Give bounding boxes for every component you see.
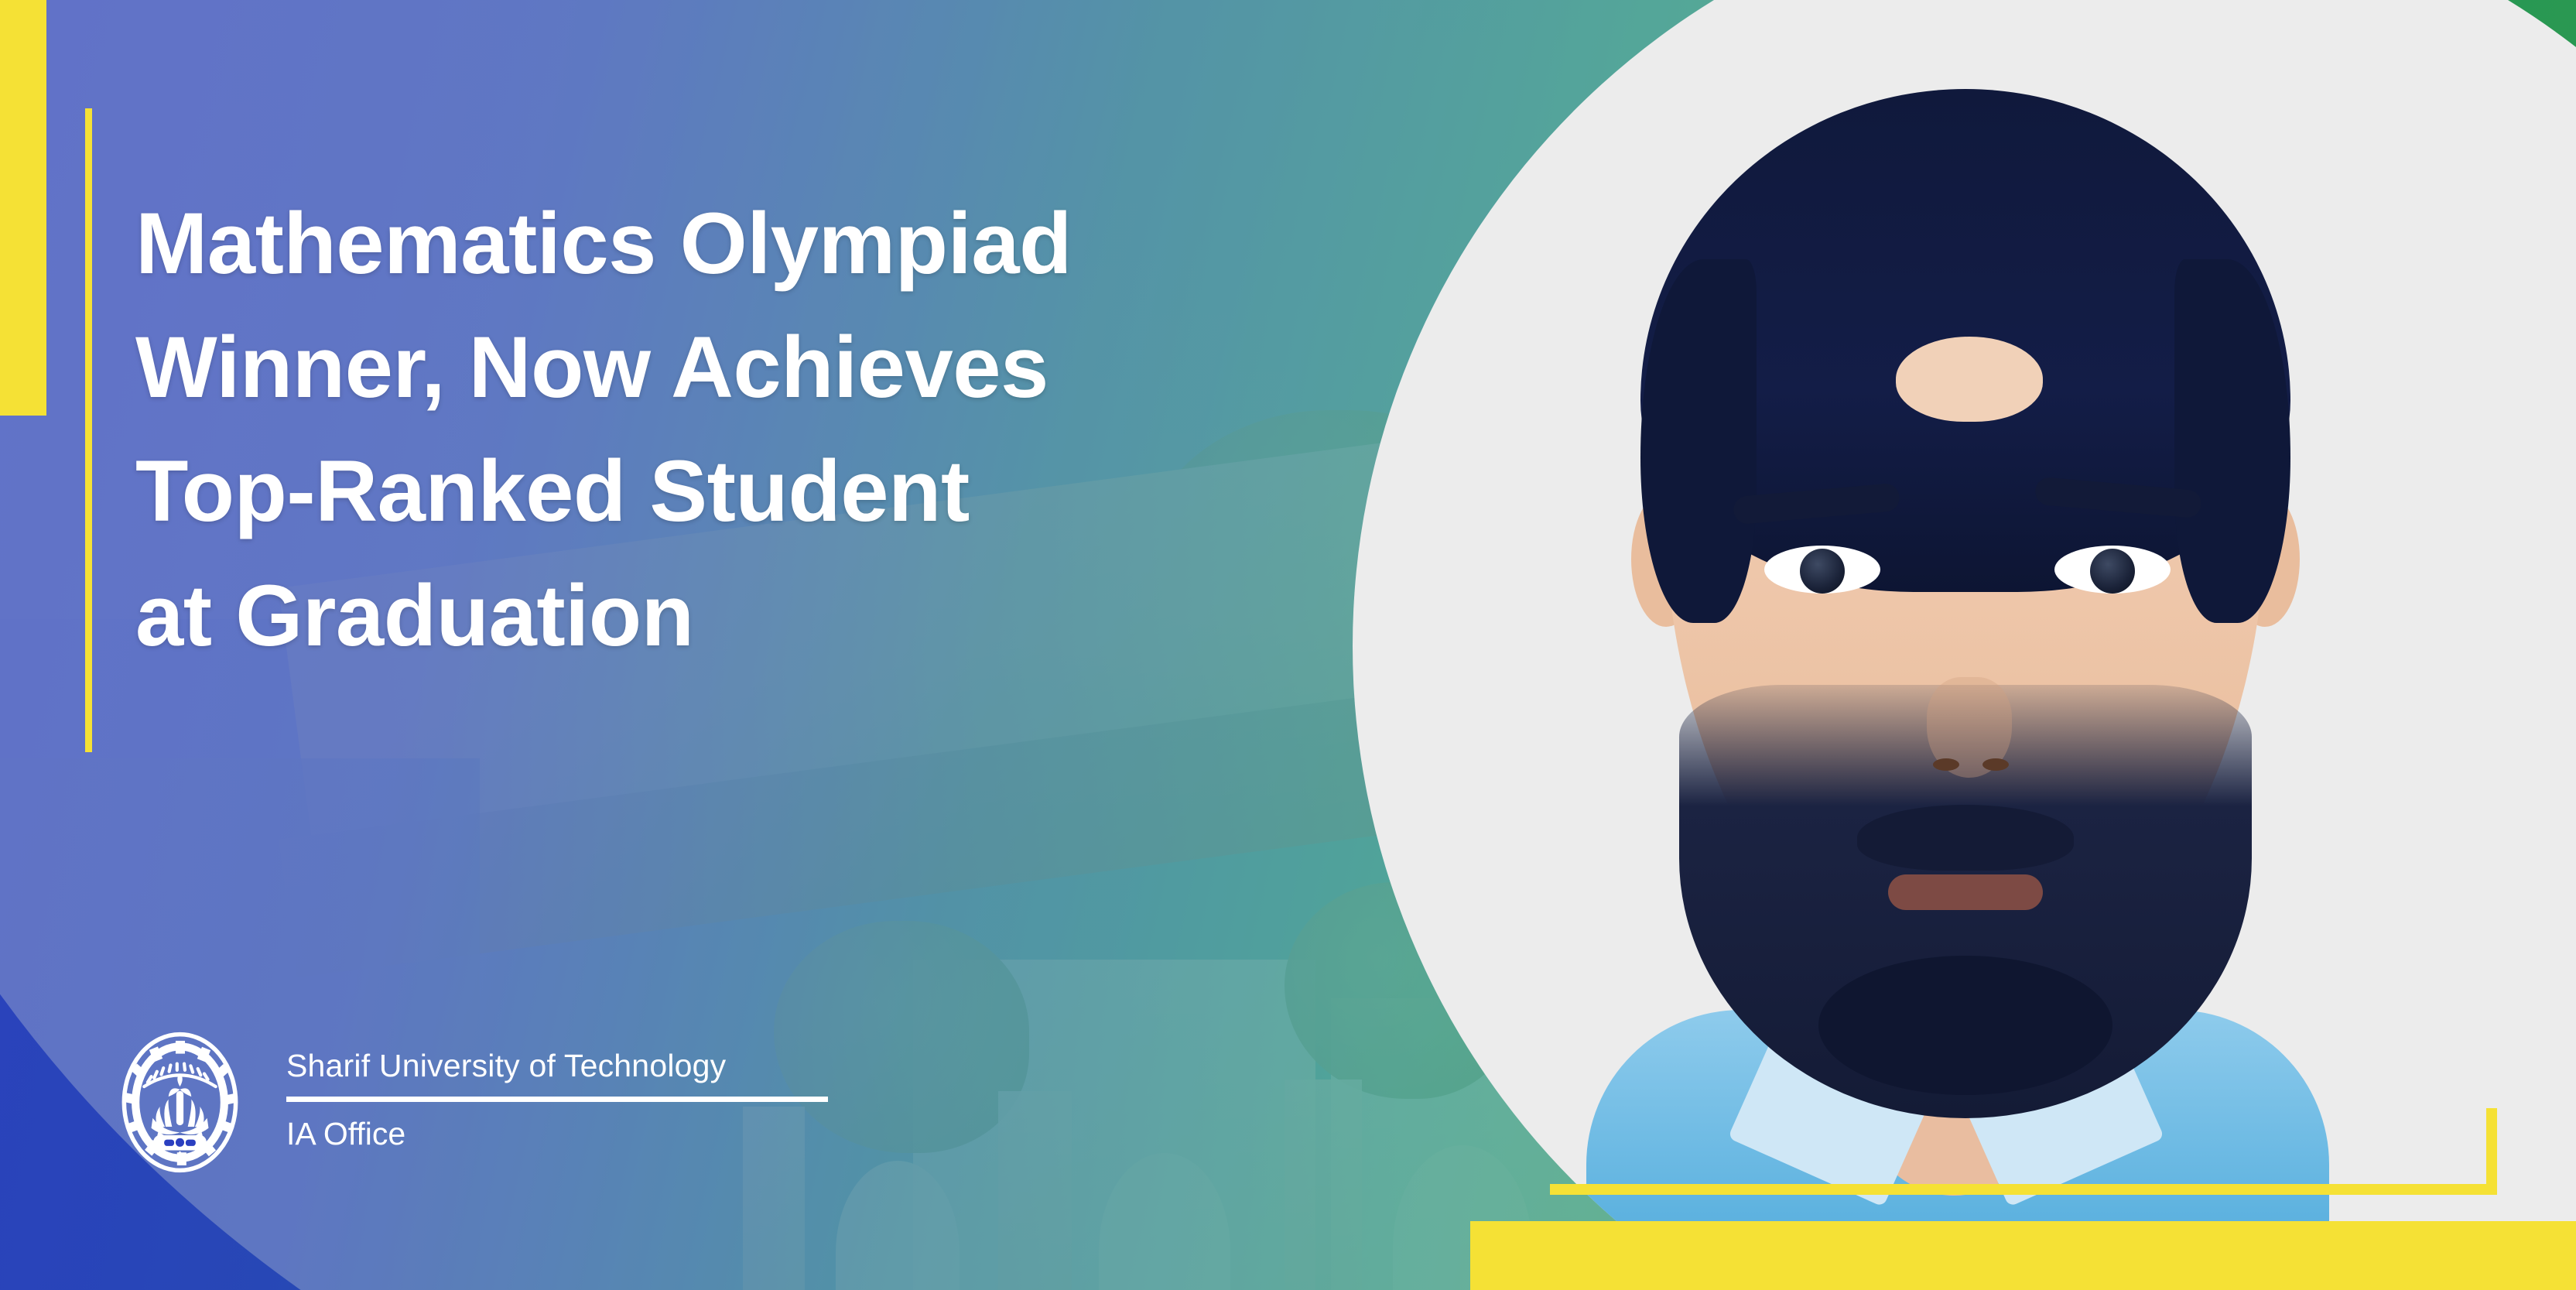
news-banner: Mathematics Olympiad Winner, Now Achieve… xyxy=(0,0,2576,1290)
title-line-4: at Graduation xyxy=(135,554,1358,678)
portrait-circle xyxy=(1353,0,2576,1290)
yellow-block-bottom-right xyxy=(1470,1221,2576,1290)
portrait-moustache xyxy=(1857,805,2074,871)
portrait-chin-shadow xyxy=(1818,956,2112,1095)
title-line-2: Winner, Now Achieves xyxy=(135,306,1358,429)
sharif-university-seal-icon xyxy=(108,1031,251,1174)
portrait-eye-left xyxy=(1764,546,1880,594)
brand-text-block: Sharif University of Technology IA Offic… xyxy=(286,1048,828,1152)
portrait-iris-left xyxy=(1800,549,1845,594)
portrait-eye-right xyxy=(2054,546,2171,594)
brand-name: Sharif University of Technology xyxy=(286,1048,828,1084)
portrait-nostril-left xyxy=(1933,758,1959,771)
page-title: Mathematics Olympiad Winner, Now Achieve… xyxy=(135,182,1358,678)
portrait-iris-right xyxy=(2090,549,2135,594)
portrait-hairline-notch xyxy=(1896,337,2043,422)
yellow-accent-line-vertical-bottom-right xyxy=(2486,1108,2497,1195)
yellow-block-top-left xyxy=(0,0,46,416)
brand-divider xyxy=(286,1097,828,1102)
portrait-photo xyxy=(1354,4,2576,1290)
brand-lockup: Sharif University of Technology IA Offic… xyxy=(108,1031,828,1174)
title-line-1: Mathematics Olympiad xyxy=(135,182,1358,306)
title-line-3: Top-Ranked Student xyxy=(135,429,1358,553)
portrait-nostril-right xyxy=(1982,758,2009,771)
brand-subtitle: IA Office xyxy=(286,1116,828,1152)
yellow-accent-line-bottom-right xyxy=(1550,1184,2497,1195)
portrait-mouth xyxy=(1888,874,2043,910)
yellow-accent-line-title xyxy=(85,108,92,752)
